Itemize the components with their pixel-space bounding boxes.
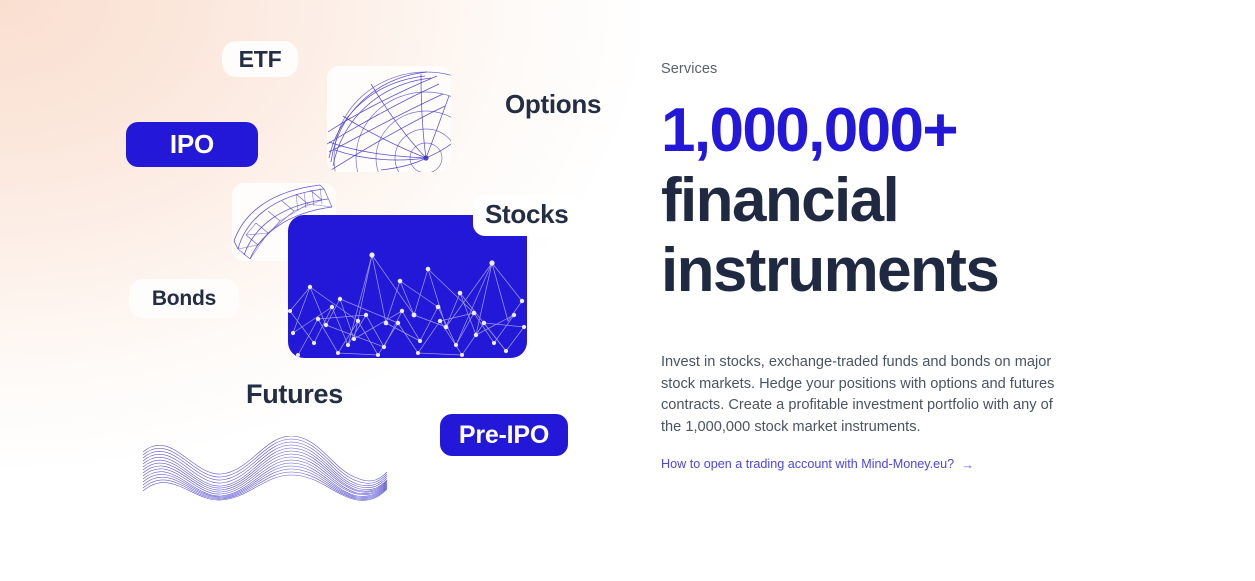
- label-options: Options: [505, 89, 601, 120]
- cta-link-label: How to open a trading account with Mind-…: [661, 457, 954, 471]
- services-hero-section: ETF IPO Options Bonds Stocks Futures Pre…: [0, 0, 1255, 581]
- chip-etf: ETF: [222, 41, 298, 77]
- open-trading-account-link[interactable]: How to open a trading account with Mind-…: [661, 457, 974, 471]
- label-futures-text: Futures: [246, 379, 343, 409]
- pill-pre-ipo: Pre-IPO: [440, 414, 568, 456]
- label-stocks: Stocks: [473, 195, 580, 236]
- chip-bonds: Bonds: [129, 279, 239, 318]
- pill-pre-ipo-label: Pre-IPO: [459, 421, 549, 450]
- headline-rest: financial instruments: [661, 166, 1081, 306]
- chip-etf-label: ETF: [239, 46, 282, 73]
- chip-bonds-label: Bonds: [152, 287, 216, 311]
- globe-wireframe-icon: [327, 66, 451, 172]
- pill-ipo: IPO: [126, 122, 258, 167]
- label-stocks-text: Stocks: [485, 199, 568, 229]
- arrow-right-icon: →: [961, 458, 974, 471]
- label-futures: Futures: [246, 379, 343, 410]
- label-options-text: Options: [505, 89, 601, 119]
- pill-ipo-label: IPO: [170, 129, 214, 160]
- headline-count: 1,000,000+: [661, 96, 1081, 166]
- network-graph-icon: [288, 215, 527, 358]
- network-graph-card: [288, 215, 527, 358]
- page-title: 1,000,000+ financial instruments: [661, 96, 1081, 306]
- services-copy-panel: Services 1,000,000+ financial instrument…: [661, 0, 1255, 581]
- instruments-illustration: ETF IPO Options Bonds Stocks Futures Pre…: [0, 0, 660, 581]
- eyebrow-label: Services: [661, 61, 717, 77]
- sine-wave-graphic: [141, 436, 389, 502]
- globe-wireframe-card: [327, 66, 451, 172]
- body-paragraph: Invest in stocks, exchange-traded funds …: [661, 352, 1073, 438]
- sine-wave-icon: [141, 436, 389, 502]
